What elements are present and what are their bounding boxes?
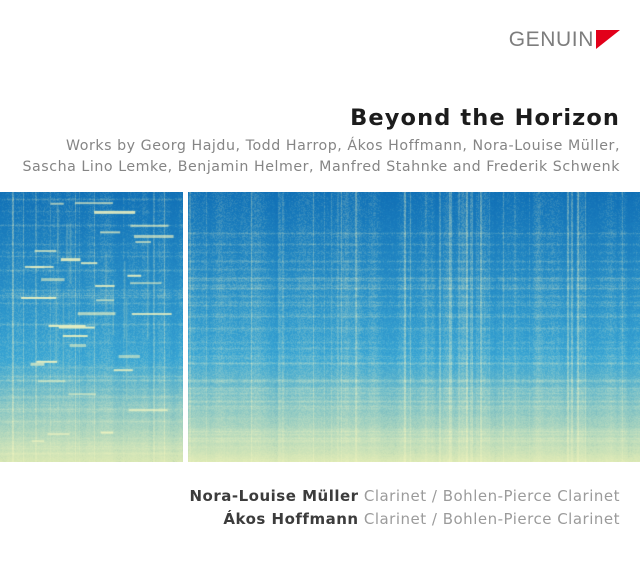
left-spectrogram-panel: [0, 192, 183, 462]
right-spectrogram-panel: [188, 192, 640, 462]
performer-role: Clarinet / Bohlen-Pierce Clarinet: [364, 487, 620, 505]
cover-artwork-spectrogram: [0, 192, 640, 462]
album-title: Beyond the Horizon: [350, 106, 620, 131]
genuin-label-logo: GENUIN: [509, 26, 620, 52]
performer-role: Clarinet / Bohlen-Pierce Clarinet: [364, 510, 620, 528]
left-spectrogram-canvas: [0, 192, 183, 462]
performer-name: Nora-Louise Müller: [189, 487, 358, 505]
genuin-red-triangle-icon: [596, 30, 620, 49]
genuin-wordmark: GENUIN: [509, 29, 594, 50]
right-spectrogram-canvas: [188, 192, 640, 462]
composers-line-2: Sascha Lino Lemke, Benjamin Helmer, Manf…: [22, 160, 620, 176]
composers-line-1: Works by Georg Hajdu, Todd Harrop, Ákos …: [66, 139, 620, 155]
performer-credit-row: Ákos Hoffmann Clarinet / Bohlen-Pierce C…: [223, 511, 620, 528]
performer-credit-row: Nora-Louise Müller Clarinet / Bohlen-Pie…: [189, 488, 620, 505]
performer-name: Ákos Hoffmann: [223, 510, 358, 528]
